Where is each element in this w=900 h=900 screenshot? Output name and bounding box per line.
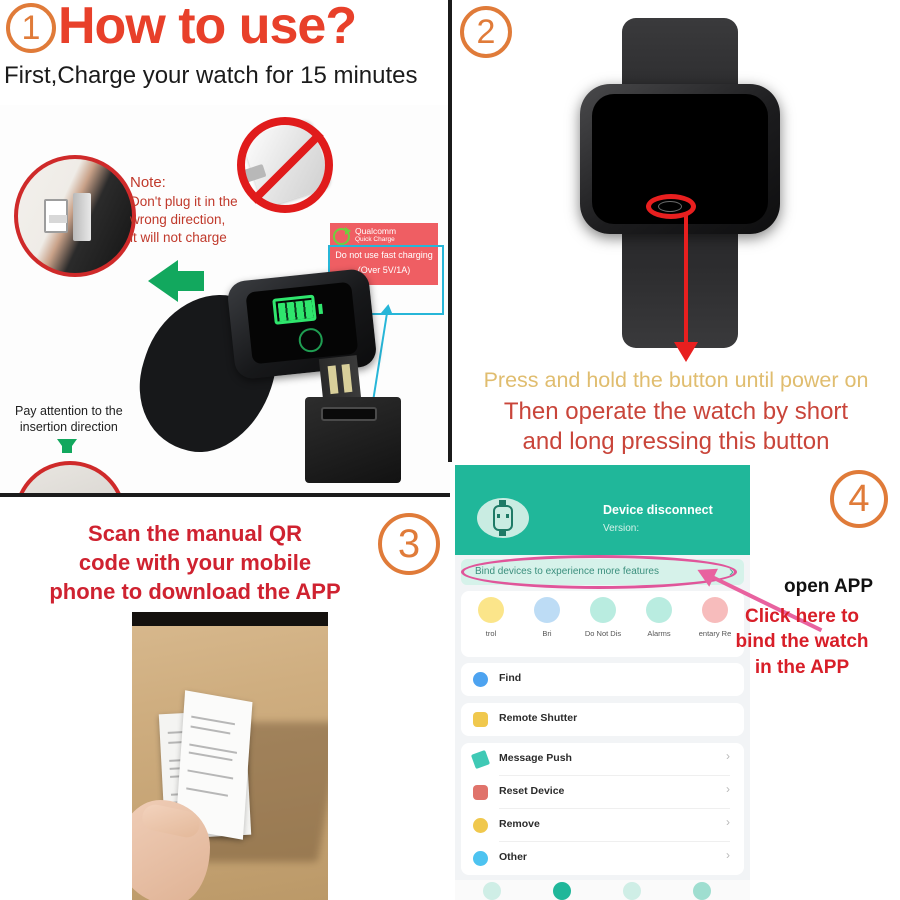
bind-callout-text: Click here to bind the watch in the APP [702, 604, 900, 680]
list-item-label: Reset Device [499, 785, 564, 797]
panel-1-title: How to use? [58, 0, 356, 56]
scan-line-2: code with your mobile [30, 548, 360, 577]
nav-icon-4[interactable] [693, 882, 711, 900]
fast-charger-prohibited-photo [235, 115, 341, 215]
note-line-1: Don't plug it in the [130, 193, 238, 211]
watch-power-ring-icon [298, 327, 324, 353]
scan-qr-instruction: Scan the manual QR code with your mobile… [30, 519, 360, 606]
nav-icon-3[interactable] [623, 882, 641, 900]
list-item-message-push[interactable]: Message Push › [461, 743, 744, 776]
step-number-3: 3 [378, 513, 440, 575]
panel-1-subtitle: First,Charge your watch for 15 minutes [4, 62, 418, 90]
quick-action-alarms[interactable]: Alarms [631, 597, 687, 638]
step-number-1: 1 [6, 3, 56, 53]
usb-connector-icon [73, 193, 91, 241]
version-label: Version: [603, 523, 639, 534]
usb-adapter-dock [305, 397, 401, 483]
insertion-line-2: insertion direction [15, 419, 123, 435]
reset-arrow-icon [473, 785, 488, 800]
chevron-right-icon: › [726, 749, 730, 763]
brightness-icon [534, 597, 560, 623]
usb-plug [319, 355, 361, 403]
step-number-2: 2 [460, 6, 512, 58]
search-icon [473, 672, 488, 687]
note-line-3: it will not charge [130, 229, 238, 247]
instruction-poster: 1 How to use? First,Charge your watch fo… [0, 0, 900, 900]
home-button [658, 201, 682, 212]
quick-action-label: trol [463, 629, 519, 638]
panel-2-power-on: 2 Press and hold the button until power … [452, 0, 900, 462]
app-header: Device disconnect Version: [455, 465, 750, 555]
note-line-2: wrong direction, [130, 211, 238, 229]
list-item-label: Message Push [499, 752, 572, 764]
insertion-line-1: Pay attention to the [15, 403, 123, 419]
note-heading: Note: [130, 173, 238, 193]
camera-icon [473, 712, 488, 727]
list-item-remove[interactable]: Remove › [461, 809, 744, 842]
scan-line-1: Scan the manual QR [30, 519, 360, 548]
send-icon [471, 750, 490, 769]
quick-action-label: Alarms [631, 629, 687, 638]
operate-instruction-line-2: and long pressing this button [452, 428, 900, 456]
ellipsis-icon [473, 851, 488, 866]
chevron-right-icon: › [726, 782, 730, 796]
charging-battery-icon [272, 295, 316, 325]
quick-action-label: Do Not Dis [575, 629, 631, 638]
callout-line-2: bind the watch [702, 629, 900, 654]
power-on-instruction: Press and hold the button until power on [452, 368, 900, 393]
usb-port-icon [44, 199, 68, 233]
watch-avatar-icon [477, 498, 529, 538]
smartwatch-photo [570, 18, 790, 348]
settings-card: Message Push › Reset Device › Remove › [461, 743, 744, 875]
note-text-block: Note: Don't plug it in the wrong directi… [130, 173, 238, 247]
prohibited-icon [237, 117, 333, 213]
quick-action-brightness[interactable]: Bri [519, 597, 575, 638]
quick-action-label: Bri [519, 629, 575, 638]
panel-4-app-binding: 4 Device disconnect Version: Bind device… [452, 462, 900, 900]
green-arrow-down-icon [57, 439, 77, 453]
qualcomm-brand-label: Qualcomm [355, 226, 396, 236]
usb-wrong-direction-photo [14, 155, 136, 277]
panel-3-scan-qr: Scan the manual QR code with your mobile… [0, 497, 450, 900]
panel-1-illustration: Note: Don't plug it in the wrong directi… [0, 105, 450, 493]
usb-correct-direction-photo [14, 461, 126, 493]
device-status-label: Device disconnect [603, 503, 713, 517]
chevron-right-icon: › [726, 848, 730, 862]
open-app-label: open APP [784, 576, 873, 598]
scan-line-3: phone to download the APP [30, 577, 360, 606]
callout-line-1: Click here to [702, 604, 900, 629]
nav-icon-1[interactable] [483, 882, 501, 900]
list-item-label: Find [499, 672, 521, 684]
table-edge [132, 612, 328, 626]
do-not-disturb-icon [590, 597, 616, 623]
remote-shutter-card: Remote Shutter [461, 703, 744, 736]
list-item-remote-shutter[interactable]: Remote Shutter [461, 703, 744, 736]
app-screenshot: Device disconnect Version: Bind devices … [455, 465, 750, 900]
quick-action-trol[interactable]: trol [463, 597, 519, 638]
divider-horizontal-left [0, 493, 450, 497]
watch-charging-photo [135, 257, 435, 493]
step-number-4: 4 [830, 470, 888, 528]
callout-line-3: in the APP [702, 655, 900, 680]
list-item-label: Other [499, 851, 527, 863]
insertion-direction-text: Pay attention to the insertion direction [15, 403, 123, 436]
red-arrow-down-icon [684, 212, 688, 350]
nav-icon-2[interactable] [553, 882, 571, 900]
operate-instruction-line-1: Then operate the watch by short [452, 398, 900, 426]
control-icon [478, 597, 504, 623]
chevron-right-icon: › [726, 815, 730, 829]
divider-vertical [448, 0, 452, 462]
list-item-label: Remote Shutter [499, 712, 577, 724]
quick-charge-sub-label: Quick Charge [355, 236, 395, 243]
panel-1-how-to-use: 1 How to use? First,Charge your watch fo… [0, 0, 450, 493]
app-bottom-navigation[interactable] [455, 880, 750, 900]
list-item-label: Remove [499, 818, 540, 830]
watch-display [245, 282, 358, 365]
unlink-icon [473, 818, 488, 833]
list-item-other[interactable]: Other › [461, 842, 744, 875]
quick-action-do-not-disturb[interactable]: Do Not Dis [575, 597, 631, 638]
alarm-clock-icon [646, 597, 672, 623]
list-item-reset-device[interactable]: Reset Device › [461, 776, 744, 809]
manual-paper-photo [132, 612, 328, 900]
quick-charge-logo-icon [333, 228, 350, 245]
